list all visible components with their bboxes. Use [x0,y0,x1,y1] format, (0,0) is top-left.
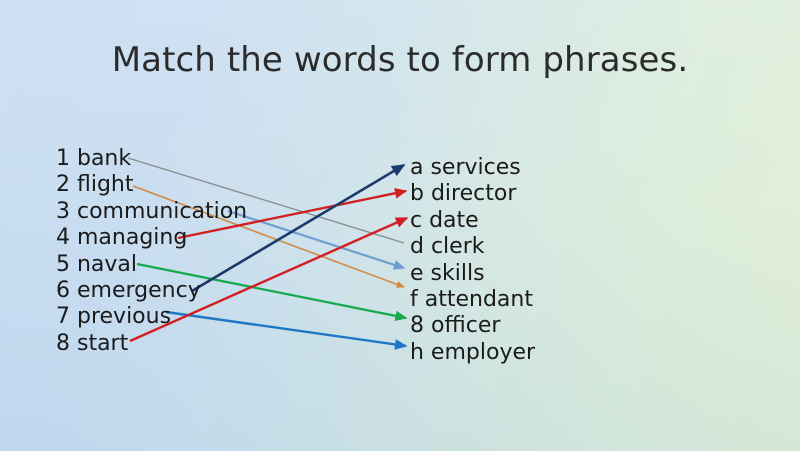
list-item[interactable]: h employer [410,340,535,366]
list-item[interactable]: f attendant [410,287,535,313]
list-item[interactable]: b director [410,181,535,207]
list-item[interactable]: 2 flight [56,172,247,198]
list-item[interactable]: 7 previous [56,304,247,330]
list-item[interactable]: 4 managing [56,225,247,251]
list-item[interactable]: e skills [410,261,535,287]
list-item[interactable]: 5 naval [56,252,247,278]
list-item[interactable]: 8 start [56,331,247,357]
list-item[interactable]: a services [410,155,535,181]
left-column: 1 bank 2 flight 3 communication 4 managi… [56,146,247,357]
list-item[interactable]: 6 emergency [56,278,247,304]
list-item[interactable]: 8 officer [410,313,535,339]
slide-canvas: Match the words to form phrases. 1 bank … [0,0,800,451]
list-item[interactable]: 3 communication [56,199,247,225]
list-item[interactable]: d clerk [410,234,535,260]
list-item[interactable]: 1 bank [56,146,247,172]
list-item[interactable]: c date [410,208,535,234]
right-column: a services b director c date d clerk e s… [410,155,535,366]
